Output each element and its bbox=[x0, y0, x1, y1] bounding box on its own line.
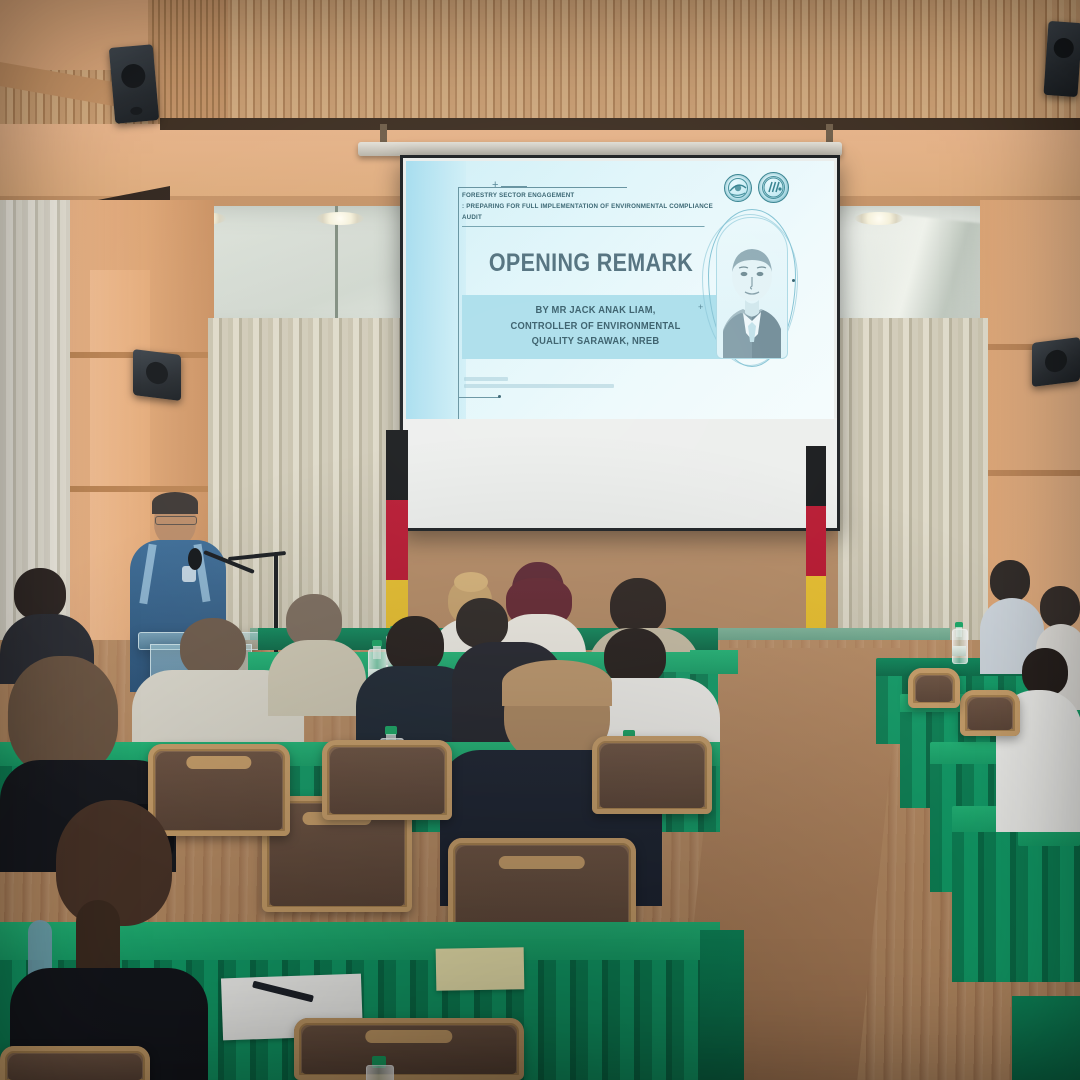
water-bottle bbox=[366, 1056, 392, 1080]
screen-roller-housing bbox=[358, 142, 842, 156]
flag-right-of-screen bbox=[806, 446, 826, 632]
wall-speaker-top-left bbox=[109, 44, 159, 124]
slide-subtitle-line-1: BY MR JACK ANAK LIAM, bbox=[481, 303, 711, 319]
wall-speaker-top-right bbox=[1043, 21, 1080, 97]
attendee-right-3 bbox=[996, 648, 1080, 828]
nreb-emblem-logo bbox=[724, 174, 752, 202]
foreground-table-side bbox=[700, 930, 744, 1080]
slide-kicker-line1: FORESTRY SECTOR ENGAGEMENT bbox=[462, 192, 574, 199]
dot-mark-icon bbox=[792, 279, 795, 282]
plus-mark-icon: + bbox=[698, 303, 703, 312]
plus-mark-icon: + bbox=[492, 180, 498, 191]
fluted-wall-left-column bbox=[148, 0, 228, 128]
yellow-note-card bbox=[436, 947, 525, 991]
chair-mid-2 bbox=[322, 740, 452, 820]
flag-left-of-screen bbox=[386, 430, 408, 635]
wall-speaker-left bbox=[133, 349, 181, 401]
slide-left-gradient bbox=[406, 161, 466, 419]
slide-kicker-line2: : PREPARING FOR FULL IMPLEMENTATION OF E… bbox=[462, 203, 713, 221]
slide-kicker-text: FORESTRY SECTOR ENGAGEMENT : PREPARING F… bbox=[462, 191, 735, 227]
slide-title: OPENING REMARK bbox=[466, 249, 715, 278]
slide-footer-note bbox=[464, 377, 634, 388]
ceiling-spotlight bbox=[316, 212, 364, 225]
attendee-mid-3 bbox=[268, 594, 364, 704]
chair-mid-3 bbox=[592, 736, 712, 814]
attendee-foreground bbox=[10, 800, 210, 1080]
table-right-foreground bbox=[1012, 996, 1080, 1080]
slide-corner-bracket-bottom bbox=[458, 397, 500, 398]
chair-foreground-1 bbox=[294, 1018, 524, 1080]
slide-tick-line bbox=[501, 186, 527, 187]
projection-screen[interactable]: + FORESTRY SECTOR ENGAGEMENT : PREPARING… bbox=[400, 155, 840, 531]
microphone-head-1 bbox=[188, 548, 202, 570]
portrait-frame bbox=[716, 217, 788, 359]
wall-speaker-right bbox=[1032, 337, 1080, 387]
slide-subtitle-line-2: CONTROLLER OF ENVIRONMENTAL bbox=[481, 319, 711, 335]
conference-hall-photo: + FORESTRY SECTOR ENGAGEMENT : PREPARING… bbox=[0, 0, 1080, 1080]
dot-mark-icon bbox=[498, 395, 501, 398]
wall-right-trim bbox=[980, 470, 1080, 476]
projected-slide: + FORESTRY SECTOR ENGAGEMENT : PREPARING… bbox=[406, 161, 834, 419]
presenter-glasses bbox=[155, 516, 197, 525]
presenter-hair bbox=[152, 492, 198, 514]
chair-foreground-2 bbox=[0, 1046, 150, 1080]
water-bottle bbox=[952, 622, 966, 664]
ceiling-beam bbox=[160, 118, 1080, 130]
chair-right-2 bbox=[908, 668, 960, 708]
table-skirt-right-4 bbox=[952, 832, 1080, 982]
chair-right-1 bbox=[960, 690, 1020, 736]
ceiling-spotlight bbox=[855, 212, 903, 225]
forestry-department-emblem-logo bbox=[758, 172, 789, 203]
slide-subtitle-box: BY MR JACK ANAK LIAM, CONTROLLER OF ENVI… bbox=[462, 295, 729, 359]
slide-kicker-rule bbox=[462, 226, 705, 227]
screen-blank-area bbox=[403, 418, 837, 528]
curtain-right-of-screen bbox=[838, 318, 988, 670]
speaker-portrait-illustration: + bbox=[706, 205, 798, 375]
slide-subtitle-line-3: QUALITY SARAWAK, NREB bbox=[481, 334, 711, 350]
